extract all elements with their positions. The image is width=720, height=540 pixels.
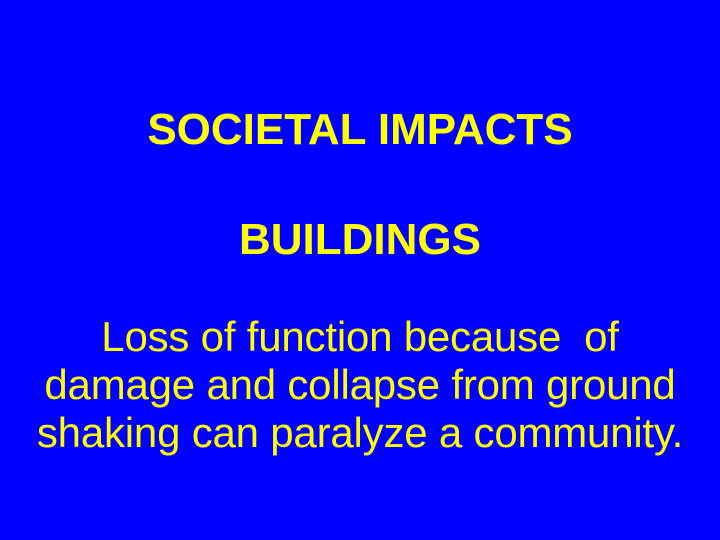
- presentation-slide: SOCIETAL IMPACTS BUILDINGS Loss of funct…: [0, 0, 720, 540]
- slide-body-text: Loss of function because of damage and c…: [8, 313, 712, 457]
- body-line: Loss of function because of: [8, 313, 712, 361]
- body-line: damage and collapse from ground: [8, 361, 712, 409]
- slide-subtitle: BUILDINGS: [0, 218, 720, 262]
- page-title: SOCIETAL IMPACTS: [0, 108, 720, 152]
- body-line: shaking can paralyze a community.: [8, 409, 712, 457]
